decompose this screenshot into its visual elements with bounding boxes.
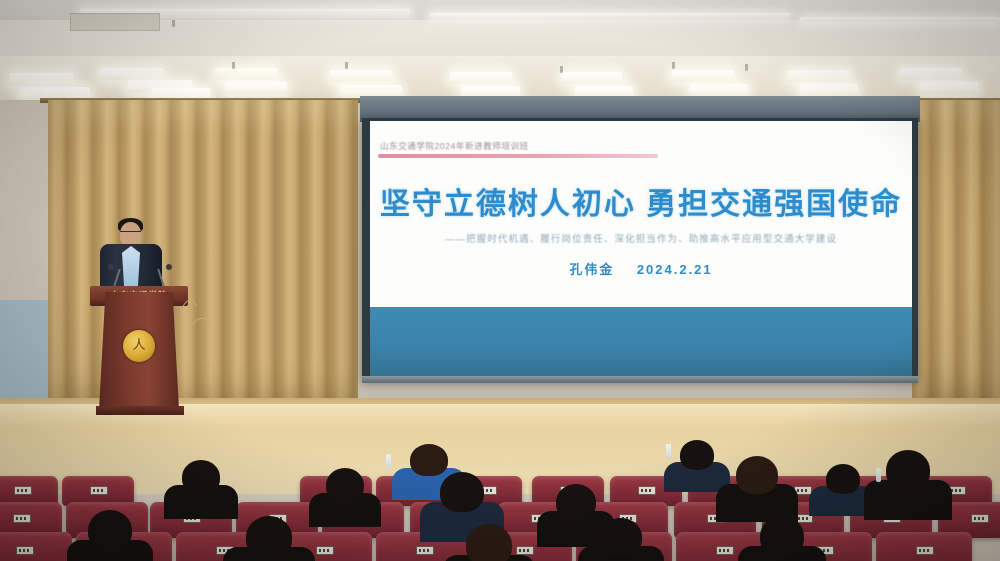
audience-member-head	[680, 440, 714, 470]
slide-accent-rule	[378, 154, 658, 158]
slide-author-and-date: 孔伟金 2024.2.21	[370, 259, 912, 278]
university-emblem-glyph: 人	[132, 337, 146, 353]
seat-number-plate	[516, 546, 534, 555]
ceiling-strip-light-2	[800, 17, 1000, 22]
seat-number-plate	[14, 486, 32, 495]
seat	[0, 532, 72, 561]
ceiling-panel-light-16	[800, 84, 858, 96]
audience-member-head	[182, 460, 220, 494]
ceiling-panel-light-17	[900, 68, 962, 80]
seat-number-plate	[971, 514, 989, 523]
seat-number-plate	[90, 486, 108, 495]
podium-base	[96, 406, 184, 415]
speaker-dress-shirt	[122, 246, 140, 288]
microphone-head-right	[166, 264, 172, 270]
ceiling-sprinkler-2	[345, 62, 348, 69]
audience-member-head	[466, 524, 512, 561]
slide-bottom-band	[370, 307, 912, 377]
seat-number-plate	[316, 546, 334, 555]
slide-date: 2024.2.21	[637, 262, 713, 277]
audience-member-head	[736, 456, 778, 494]
audience-member-head	[556, 484, 596, 520]
audience-member-head	[760, 516, 804, 556]
audience-member-head	[246, 516, 292, 558]
ceiling-sprinkler-5	[745, 64, 748, 71]
seat-number-plate	[716, 546, 734, 555]
ceiling-panel-light-18	[920, 82, 978, 94]
microphone-head-left	[108, 264, 114, 270]
auditorium-photo: 山东交通学院2024年新进教师培训班 坚守立德树人初心 勇担交通强国使命 ——把…	[0, 0, 1000, 561]
ceiling-panel-light-13	[672, 70, 734, 82]
audience-member-head	[410, 444, 448, 476]
stage-curtain-right	[912, 100, 1000, 420]
ceiling-panel-light-7	[330, 70, 392, 82]
audience-member-head	[886, 450, 930, 490]
seat-number-plate	[638, 486, 656, 495]
ceiling-strip-light-1	[430, 13, 790, 18]
screen-bottom-trim	[362, 376, 918, 383]
slide-subtitle: ——把握时代机遇、履行岗位责任、深化担当作为、助推高水平应用型交通大学建设	[370, 231, 912, 245]
seat-number-plate	[13, 514, 31, 523]
slide-title: 坚守立德树人初心 勇担交通强国使命	[370, 179, 912, 223]
speaker-glasses	[120, 231, 141, 236]
ceiling-sprinkler-4	[672, 62, 675, 69]
seat-number-plate	[916, 546, 934, 555]
water-bottle-b	[666, 444, 671, 458]
audience-member-head	[326, 468, 364, 502]
ceiling-panel-light-2	[100, 68, 164, 80]
seat-number-plate	[16, 546, 34, 555]
ceiling-panel-light-0	[10, 73, 74, 86]
projection-screen: 山东交通学院2024年新进教师培训班 坚守立德树人初心 勇担交通强国使命 ——把…	[370, 121, 912, 377]
water-bottle-a	[386, 454, 391, 468]
ceiling-sprinkler-1	[232, 62, 235, 69]
ceiling-sprinkler-0	[172, 20, 175, 27]
audience-member-head	[88, 510, 132, 550]
ceiling-air-vent-0	[70, 13, 160, 31]
water-bottle-c	[876, 468, 881, 482]
seat-number-plate	[416, 546, 434, 555]
ceiling-panel-light-11	[562, 72, 622, 84]
ceiling-sprinkler-3	[560, 66, 563, 73]
audience-member-head	[826, 464, 860, 494]
ceiling-panel-light-14	[690, 84, 748, 96]
audience-seating	[0, 420, 1000, 561]
ceiling-panel-light-6	[225, 82, 287, 94]
slide-kicker-text: 山东交通学院2024年新进教师培训班	[380, 140, 529, 152]
ceiling-panel-light-5	[215, 68, 277, 80]
stage-cable-b	[184, 318, 220, 390]
audience-member-head	[600, 518, 642, 556]
ceiling-panel-light-9	[450, 72, 512, 84]
slide-author-name: 孔伟金	[569, 262, 614, 277]
ceiling-panel-light-15	[788, 70, 850, 82]
audience-member-head	[440, 472, 484, 512]
